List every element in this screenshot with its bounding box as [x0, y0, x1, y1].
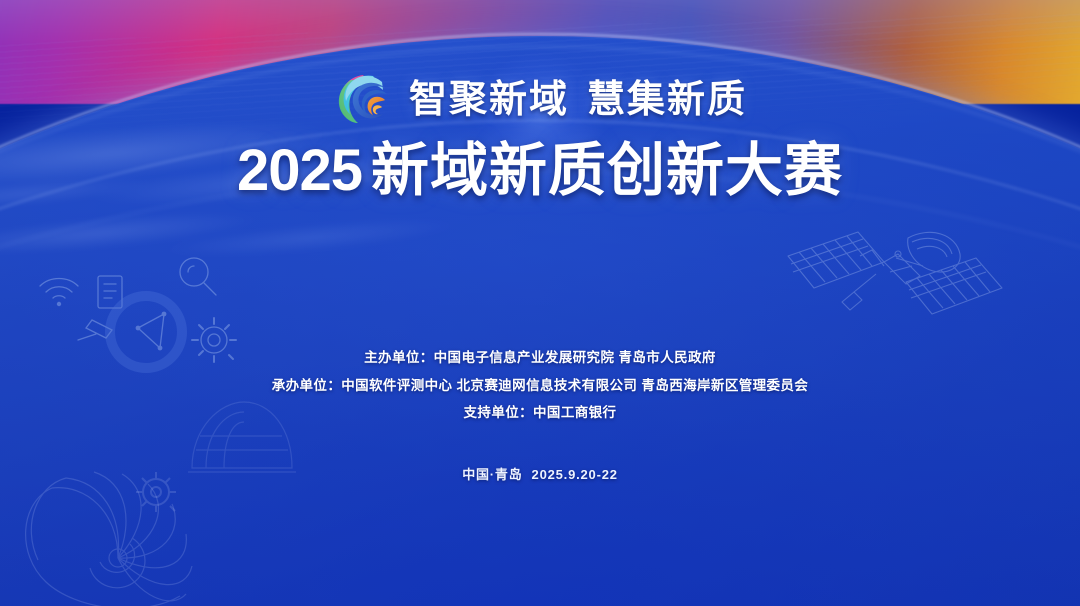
credits-block: 主办单位：中国电子信息产业发展研究院 青岛市人民政府 承办单位：中国软件评测中心…	[272, 344, 809, 426]
event-date: 2025.9.20-22	[532, 467, 618, 482]
logo-slogan-lockup: 智聚新域慧集新质	[333, 72, 747, 128]
page-title: 2025新域新质创新大赛	[237, 141, 843, 201]
credit-line-host: 主办单位：中国电子信息产业发展研究院 青岛市人民政府	[272, 344, 809, 371]
poster-content: 智聚新域慧集新质 2025新域新质创新大赛 主办单位：中国电子信息产业发展研究院…	[0, 0, 1080, 606]
swirl-logo-icon	[333, 72, 395, 128]
slogan-right: 慧集新质	[587, 79, 747, 121]
credit-line-supporter: 支持单位：中国工商银行	[272, 399, 809, 426]
poster-canvas: 智聚新域慧集新质 2025新域新质创新大赛 主办单位：中国电子信息产业发展研究院…	[0, 0, 1080, 606]
place-and-date: 中国·青岛2025.9.20-22	[462, 464, 618, 483]
event-location: 中国·青岛	[462, 467, 522, 482]
credit-line-organizer: 承办单位：中国软件评测中心 北京赛迪网信息技术有限公司 青岛西海岸新区管理委员会	[272, 372, 809, 399]
slogan-left: 智聚新域	[409, 79, 569, 121]
title-main: 新域新质创新大赛	[371, 138, 843, 203]
title-year: 2025	[237, 138, 362, 203]
event-slogan: 智聚新域慧集新质	[409, 81, 747, 119]
